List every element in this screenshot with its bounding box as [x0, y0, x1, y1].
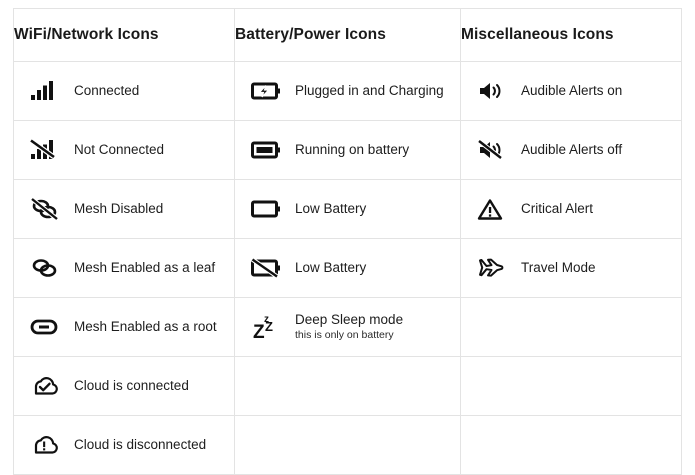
row-label: Low Battery	[295, 260, 366, 276]
row-label: Audible Alerts on	[521, 83, 622, 99]
row-label: Mesh Disabled	[74, 201, 163, 217]
signal-bars-full-icon	[30, 75, 66, 107]
cell-battery-low-empty: Low Battery	[235, 180, 461, 239]
row-label: Mesh Enabled as a leaf	[74, 260, 215, 276]
cloud-exclamation-icon	[30, 429, 66, 461]
cell-mesh-leaf: Mesh Enabled as a leaf	[14, 239, 235, 298]
cell-misc-empty-3	[461, 416, 682, 475]
table-header: WiFi/Network Icons Battery/Power Icons M…	[14, 9, 682, 62]
row-label: Travel Mode	[521, 260, 596, 276]
header-wifi-network: WiFi/Network Icons	[14, 9, 235, 62]
cell-battery-charging: Plugged in and Charging	[235, 62, 461, 121]
mesh-link-root-icon	[30, 311, 66, 343]
battery-full-icon	[251, 134, 287, 166]
cell-misc-empty-1	[461, 298, 682, 357]
table-body: Connected Plugged in and Charging	[14, 62, 682, 475]
row-label: Running on battery	[295, 142, 409, 158]
cell-battery-low-slash: Low Battery	[235, 239, 461, 298]
mesh-links-leaf-icon	[30, 252, 66, 284]
table-header-row: WiFi/Network Icons Battery/Power Icons M…	[14, 9, 682, 62]
row-label: Low Battery	[295, 201, 366, 217]
cell-cloud-disconnected: Cloud is disconnected	[14, 416, 235, 475]
row-label: Plugged in and Charging	[295, 83, 444, 99]
cell-travel-mode: Travel Mode	[461, 239, 682, 298]
cloud-check-icon	[30, 370, 66, 402]
svg-text:z: z	[264, 314, 269, 325]
row-label: Audible Alerts off	[521, 142, 622, 158]
row-label: Connected	[74, 83, 139, 99]
signal-bars-slash-icon	[30, 134, 66, 166]
battery-empty-icon	[251, 193, 287, 225]
row-label: Cloud is disconnected	[74, 437, 206, 453]
cell-battery-empty-1	[235, 357, 461, 416]
cell-alerts-on: Audible Alerts on	[461, 62, 682, 121]
table-row: Mesh Disabled Low Battery	[14, 180, 682, 239]
cell-mesh-root: Mesh Enabled as a root	[14, 298, 235, 357]
cell-battery-running: Running on battery	[235, 121, 461, 180]
battery-slash-icon	[251, 252, 287, 284]
cell-deep-sleep: Z Z z Deep Sleep mode this is only on ba…	[235, 298, 461, 357]
mesh-links-slash-icon	[30, 193, 66, 225]
table-row: Cloud is connected	[14, 357, 682, 416]
speaker-on-icon	[477, 75, 513, 107]
row-label: Mesh Enabled as a root	[74, 319, 217, 335]
deep-sleep-zzz-icon: Z Z z	[251, 311, 287, 343]
airplane-icon	[477, 252, 513, 284]
battery-charging-icon	[251, 75, 287, 107]
cell-critical-alert: Critical Alert	[461, 180, 682, 239]
warning-triangle-icon	[477, 193, 513, 225]
row-label: Cloud is connected	[74, 378, 189, 394]
cell-battery-empty-2	[235, 416, 461, 475]
row-label: Deep Sleep mode	[295, 312, 403, 328]
cell-mesh-disabled: Mesh Disabled	[14, 180, 235, 239]
cell-wifi-not-connected: Not Connected	[14, 121, 235, 180]
table-row: Not Connected Running on battery	[14, 121, 682, 180]
table-row: Connected Plugged in and Charging	[14, 62, 682, 121]
table-row: Cloud is disconnected	[14, 416, 682, 475]
cell-misc-empty-2	[461, 357, 682, 416]
row-label: Not Connected	[74, 142, 164, 158]
table-row: Mesh Enabled as a leaf Low Battery	[14, 239, 682, 298]
cell-wifi-connected: Connected	[14, 62, 235, 121]
header-battery-power: Battery/Power Icons	[235, 9, 461, 62]
header-miscellaneous: Miscellaneous Icons	[461, 9, 682, 62]
cell-alerts-off: Audible Alerts off	[461, 121, 682, 180]
icon-legend-table: WiFi/Network Icons Battery/Power Icons M…	[13, 8, 682, 475]
svg-text:Z: Z	[253, 322, 265, 342]
cell-cloud-connected: Cloud is connected	[14, 357, 235, 416]
table-row: Mesh Enabled as a root Z Z z Deep Sleep …	[14, 298, 682, 357]
row-sublabel: this is only on battery	[295, 329, 403, 343]
row-label: Critical Alert	[521, 201, 593, 217]
speaker-off-icon	[477, 134, 513, 166]
